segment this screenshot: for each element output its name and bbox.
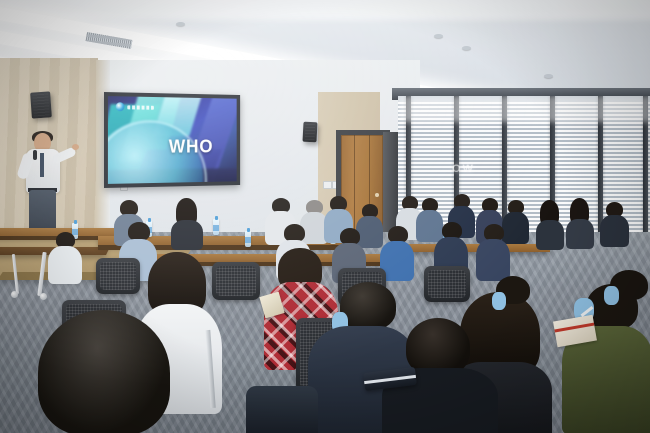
attendee-torso [536, 220, 564, 250]
smoke-detector [176, 22, 185, 26]
projection-screen: WHO [104, 92, 240, 188]
attendee-torso [600, 215, 629, 247]
slide-canvas: WHO [108, 96, 237, 184]
smoke-detector [462, 46, 471, 50]
slide-title: WHO [169, 137, 214, 158]
attendee-torso [48, 246, 82, 284]
attendee-hair [38, 310, 170, 433]
logo-wordmark [127, 105, 154, 109]
organization-logo-mark [116, 102, 154, 111]
conference-table [400, 244, 550, 252]
wall-speaker-left [30, 91, 52, 118]
mesh-back-office-chair[interactable] [96, 258, 140, 294]
attendee-torso [356, 216, 383, 248]
mesh-back-office-chair[interactable] [424, 266, 470, 302]
logo-globe-icon [116, 102, 125, 111]
attendee-torso [171, 220, 203, 250]
door-handle[interactable] [375, 193, 379, 197]
attendee-torso [476, 239, 510, 281]
chair-mesh [100, 262, 136, 290]
attendee-torso [416, 210, 443, 242]
conference-room-photo: OW WHO [0, 0, 650, 433]
handheld-microphone [33, 150, 37, 160]
water-bottle [245, 231, 251, 247]
smoke-detector [434, 34, 443, 38]
wall-speaker-right [302, 122, 317, 143]
attendee-torso [566, 219, 594, 249]
face-mask [604, 286, 619, 305]
attendee-hair [340, 282, 396, 330]
chair-mesh [216, 266, 256, 296]
table-caster [11, 291, 18, 298]
glass-wall-reflection-text: OW [452, 163, 475, 175]
table-caster [40, 293, 47, 300]
presenter-tie [40, 153, 44, 177]
mesh-back-office-chair[interactable] [212, 262, 260, 300]
presenter [18, 133, 74, 243]
laptop-seam [364, 375, 416, 384]
chair-mesh [428, 270, 466, 298]
bag-on-floor [246, 386, 318, 433]
smoke-detector [544, 74, 553, 78]
notebook-line [554, 323, 594, 333]
water-bottle [213, 219, 219, 235]
face-mask [492, 292, 506, 310]
attendee-torso [502, 212, 529, 244]
presenter-hand [72, 144, 79, 150]
light-switch-panel[interactable] [323, 181, 332, 189]
